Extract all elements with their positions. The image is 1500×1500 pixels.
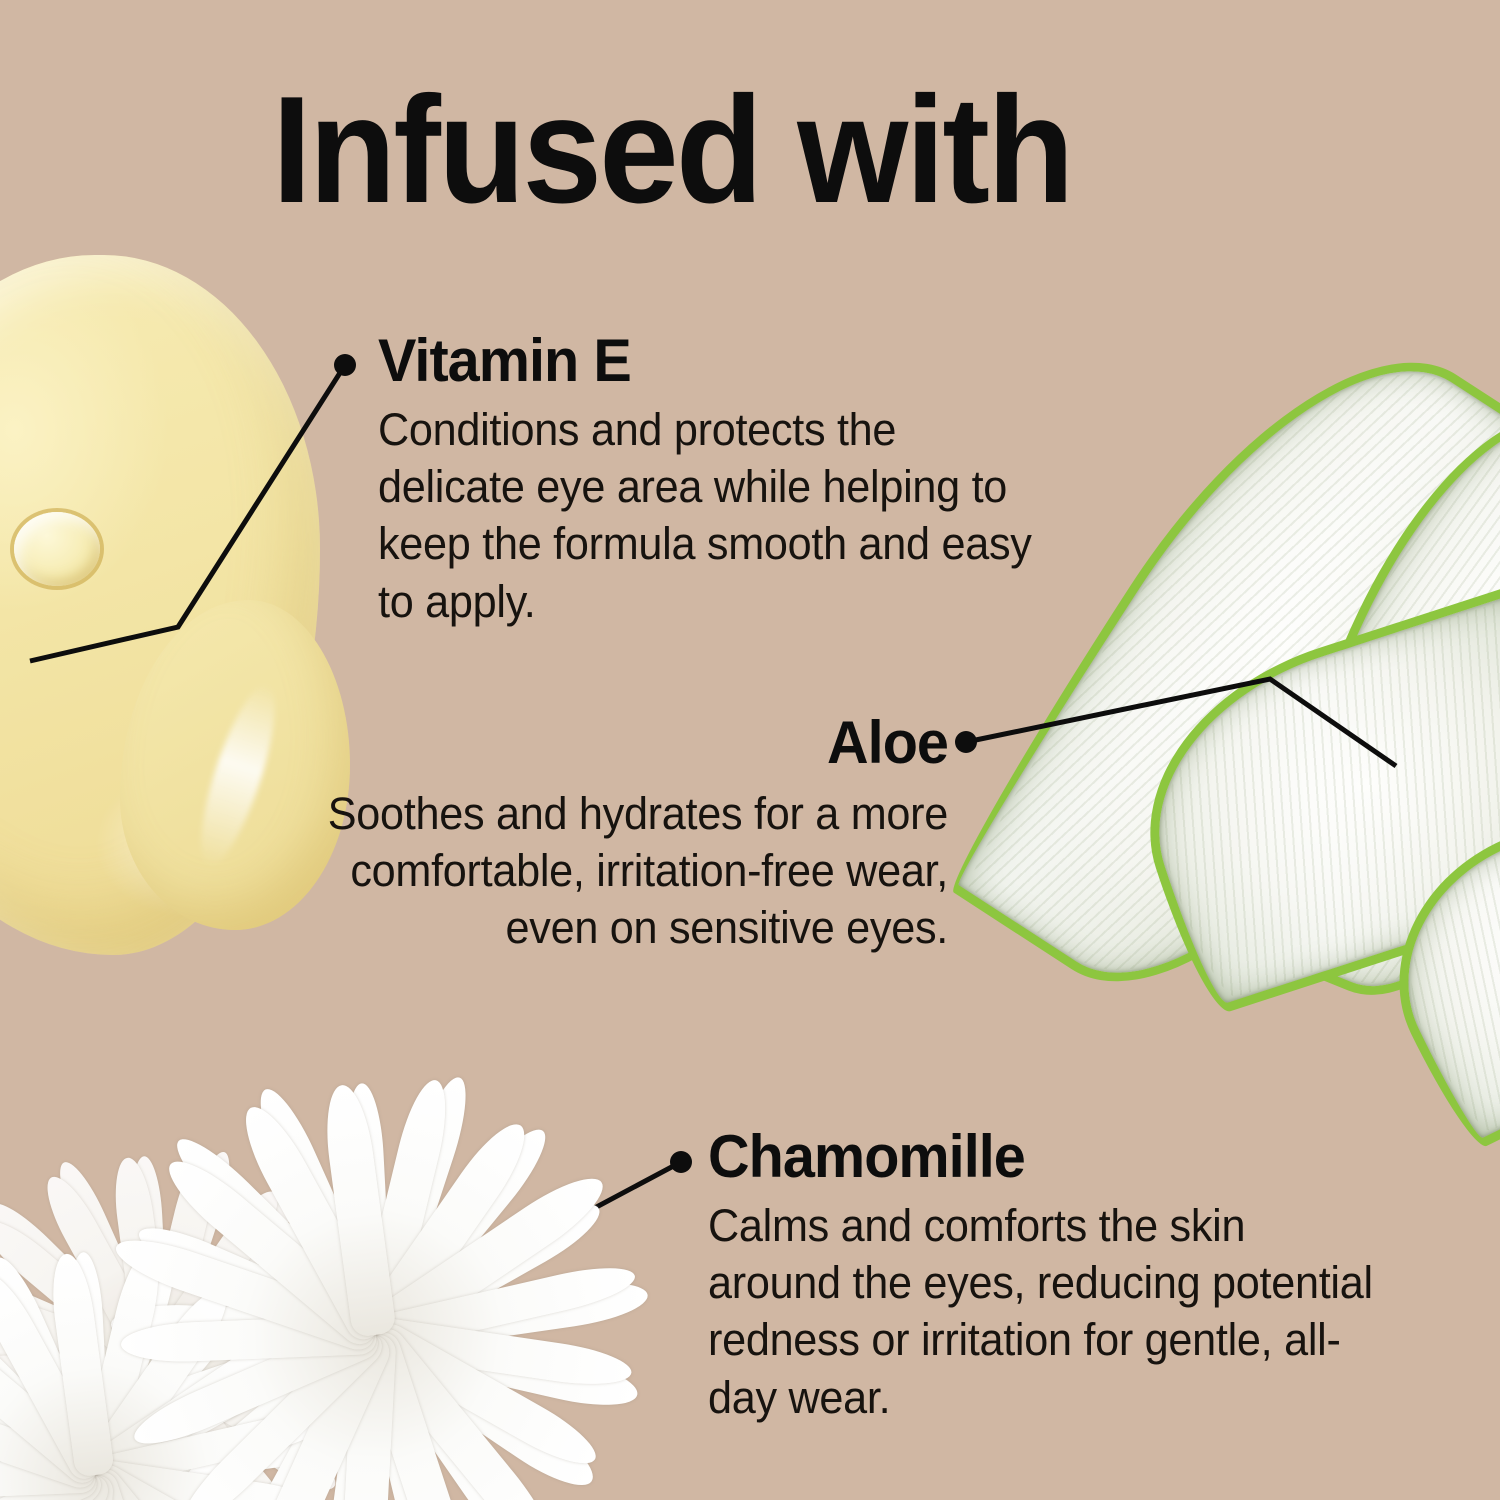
chamomille-leader [362, 1162, 681, 1452]
ingredient-title: Chamomille [708, 1126, 1380, 1187]
ingredient-description: Calms and comforts the skin around the e… [708, 1197, 1380, 1426]
ingredient-title: Vitamin E [378, 330, 1040, 391]
infographic-canvas: Infused with Vitamin E Conditions and pr… [0, 0, 1500, 1500]
ingredient-callout-chamomille: Chamomille Calms and comforts the skin a… [708, 1126, 1408, 1426]
ingredient-callout-vitamin-e: Vitamin E Conditions and protects the de… [378, 330, 1068, 630]
ingredient-title: Aloe [326, 712, 948, 773]
ingredient-callout-aloe: Aloe Soothes and hydrates for a more com… [300, 712, 948, 957]
vitamin-e-leader-dot [334, 354, 356, 376]
aloe-leader [966, 679, 1396, 766]
page-title: Infused with [272, 74, 1072, 226]
vitamin-e-leader [30, 365, 345, 661]
ingredient-description: Soothes and hydrates for a more comforta… [326, 785, 948, 956]
chamomille-leader-dot [670, 1151, 692, 1173]
aloe-leader-dot [955, 731, 977, 753]
ingredient-description: Conditions and protects the delicate eye… [378, 401, 1040, 630]
